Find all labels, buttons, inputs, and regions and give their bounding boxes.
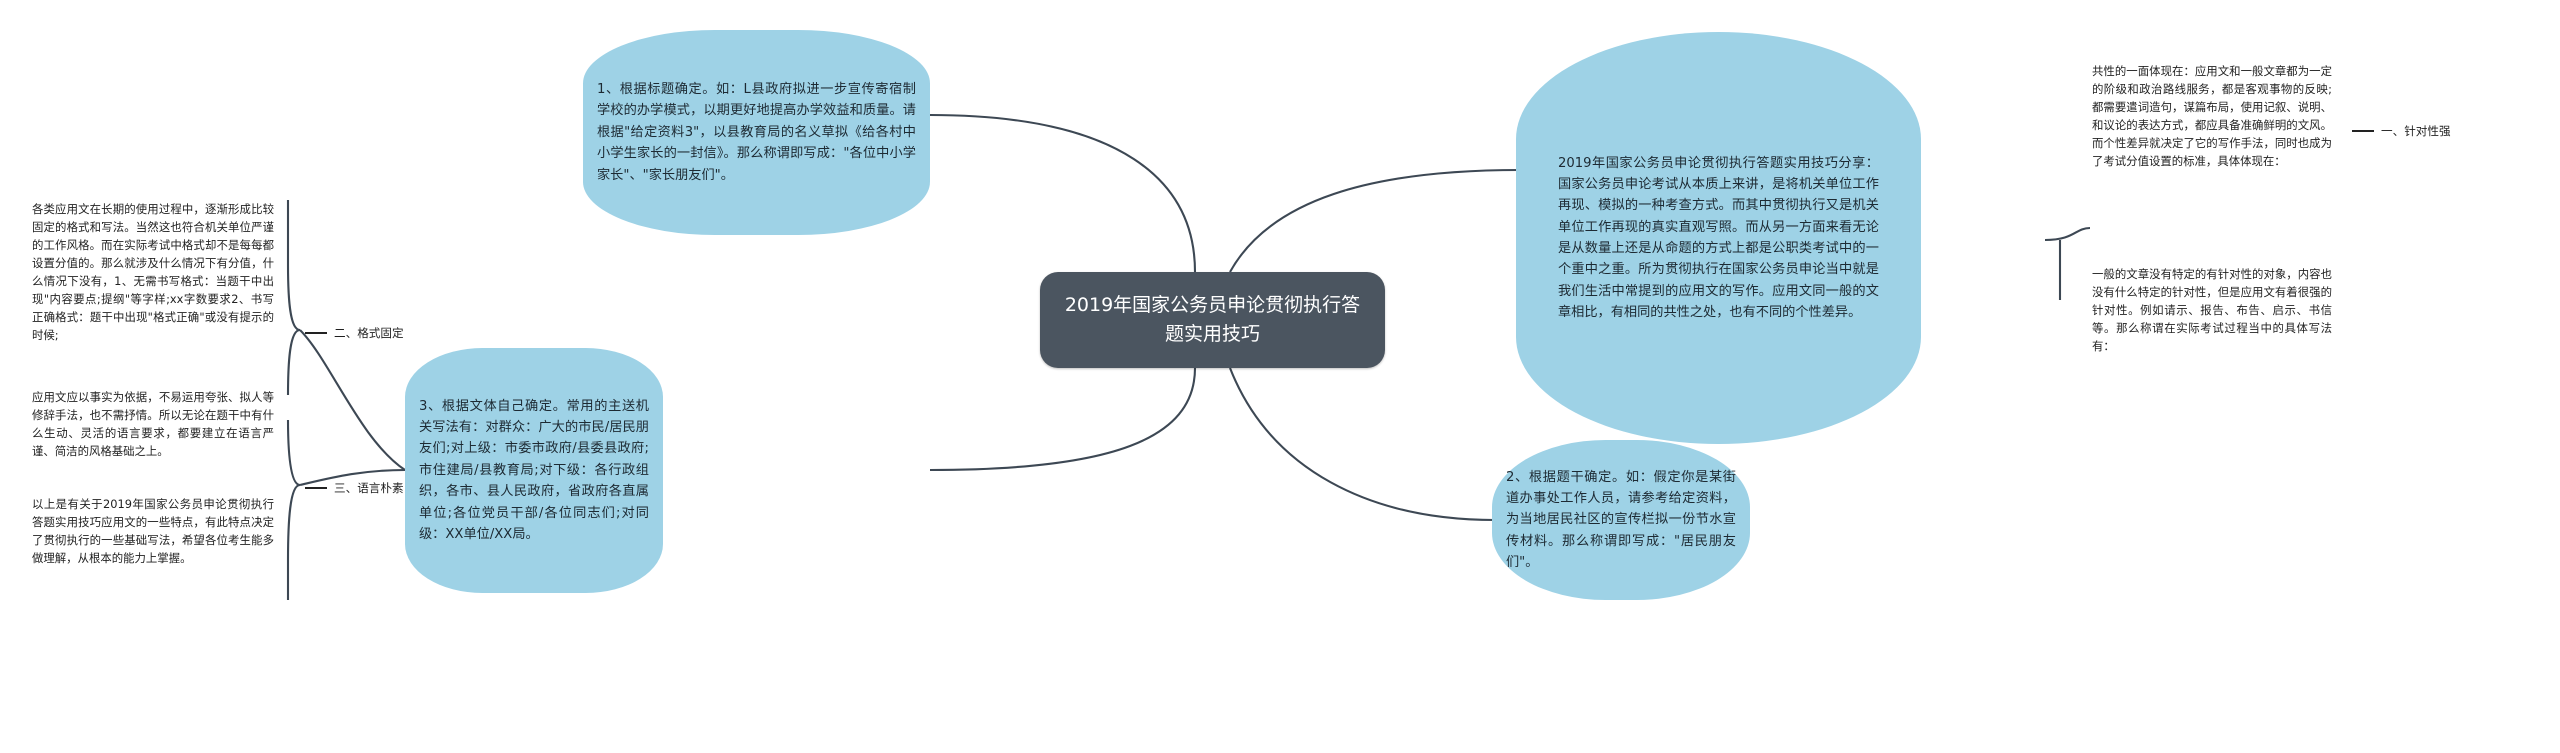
link-summary-to-targeting-top [2045,228,2090,240]
node-topic-3[interactable]: 3、根据文体自己确定。常用的主送机关写法有：对群众：广大的市民/居民朋友们;对上… [405,348,663,593]
leaf-common-traits: 共性的一面体现在：应用文和一般文章都为一定的阶级和政治路线服务，都是客观事物的反… [2092,62,2332,170]
node-topic-1[interactable]: 1、根据标题确定。如：L县政府拟进一步宣传寄宿制学校的办学模式，以期更好地提高办… [583,30,930,235]
leaf-targeting: 一般的文章没有特定的有针对性的对象，内容也没有什么特定的针对性，但是应用文有着很… [2092,265,2332,355]
node-topic-1-text: 1、根据标题确定。如：L县政府拟进一步宣传寄宿制学校的办学模式，以期更好地提高办… [583,79,930,186]
branch-label-fixed-format[interactable]: 二、格式固定 [305,325,404,341]
link-left-spine-plain-b [288,420,300,485]
link-root-to-summary [1230,170,1520,272]
node-topic-3-text: 3、根据文体自己确定。常用的主送机关写法有：对群众：广大的市民/居民朋友们;对上… [405,396,663,546]
dash-icon [2352,130,2374,132]
link-left-spine-plain-a [288,485,300,600]
dash-icon [305,487,327,489]
node-summary[interactable]: 2019年国家公务员申论贯彻执行答题实用技巧分享：国家公务员申论考试从本质上来讲… [1516,32,1921,444]
link-root-to-topic2 [1230,368,1495,520]
link-topic3-to-fixed [300,330,405,470]
node-summary-text: 2019年国家公务员申论贯彻执行答题实用技巧分享：国家公务员申论考试从本质上来讲… [1516,153,1921,324]
link-root-to-topic3 [930,368,1195,470]
dash-icon [305,332,327,334]
branch-label-targeting-text: 一、针对性强 [2381,123,2451,139]
link-root-to-topic1 [930,115,1195,272]
link-left-spine-fixed-a [288,200,300,330]
leaf-conclusion: 以上是有关于2019年国家公务员申论贯彻执行答题实用技巧应用文的一些特点，有此特… [32,495,274,567]
leaf-plain-language: 应用文应以事实为依据，不易运用夸张、拟人等修辞手法，也不需抒情。所以无论在题干中… [32,388,274,460]
branch-label-plain-language[interactable]: 三、语言朴素 [305,480,404,496]
mindmap-canvas: 2019年国家公务员申论贯彻执行答题实用技巧 1、根据标题确定。如：L县政府拟进… [0,0,2560,753]
branch-label-targeting[interactable]: 一、针对性强 [2352,123,2451,139]
node-topic-2-text: 2、根据题干确定。如：假定你是某街道办事处工作人员，请参考给定资料，为当地居民社… [1492,467,1750,574]
node-topic-2[interactable]: 2、根据题干确定。如：假定你是某街道办事处工作人员，请参考给定资料，为当地居民社… [1492,440,1750,600]
leaf-fixed-format: 各类应用文在长期的使用过程中，逐渐形成比较固定的格式和写法。当然这也符合机关单位… [32,200,274,344]
root-node-label: 2019年国家公务员申论贯彻执行答题实用技巧 [1040,291,1385,350]
root-node[interactable]: 2019年国家公务员申论贯彻执行答题实用技巧 [1040,272,1385,368]
branch-label-fixed-format-text: 二、格式固定 [334,325,404,341]
link-left-spine-fixed-b [288,330,300,395]
branch-label-plain-language-text: 三、语言朴素 [334,480,404,496]
